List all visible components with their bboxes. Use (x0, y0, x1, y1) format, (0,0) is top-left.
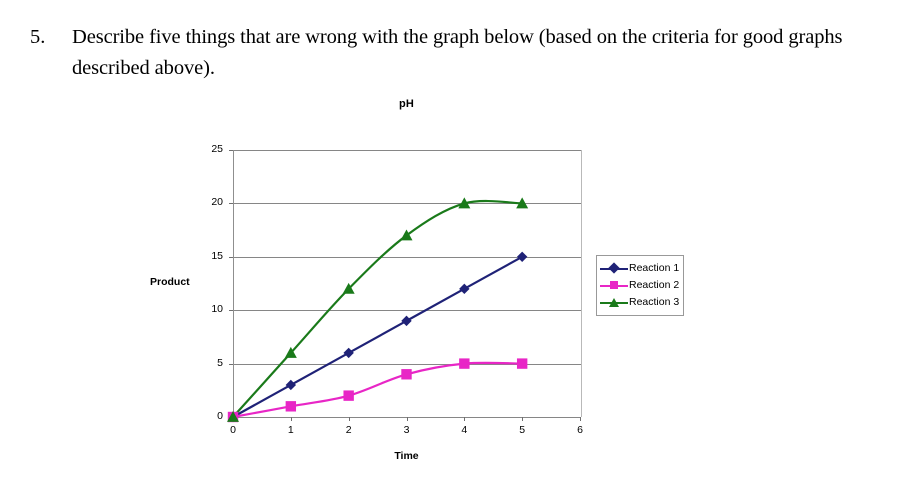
x-tick-label-2: 2 (334, 424, 364, 436)
x-tick-mark-2 (349, 417, 350, 421)
x-tick-label-0: 0 (218, 424, 248, 436)
y-tick-label-5: 5 (183, 357, 223, 369)
legend-label-reaction-2: Reaction 2 (629, 278, 679, 293)
x-tick-mark-5 (522, 417, 523, 421)
legend-item-reaction-2[interactable]: Reaction 2 (599, 277, 680, 294)
chart-figure: pH Product 25 20 15 10 5 0 0 1 2 3 4 5 6… (0, 95, 924, 485)
y-tick-mark-10 (229, 310, 233, 311)
x-tick-label-1: 1 (276, 424, 306, 436)
x-tick-label-6: 6 (565, 424, 595, 436)
gridline-5 (234, 364, 581, 365)
legend-label-reaction-3: Reaction 3 (629, 295, 679, 310)
gridline-10 (234, 310, 581, 311)
x-tick-label-4: 4 (449, 424, 479, 436)
y-tick-mark-5 (229, 364, 233, 365)
x-tick-mark-1 (291, 417, 292, 421)
square-marker-icon (610, 281, 618, 289)
question-text: Describe five things that are wrong with… (72, 22, 924, 84)
gridline-25 (234, 150, 581, 151)
x-tick-label-5: 5 (507, 424, 537, 436)
plot-area (233, 150, 582, 417)
x-tick-mark-3 (407, 417, 408, 421)
y-tick-label-25: 25 (183, 143, 223, 155)
legend-key-reaction-2 (599, 278, 629, 293)
y-tick-mark-25 (229, 150, 233, 151)
chart-title: pH (233, 98, 580, 110)
question-row: 5. Describe five things that are wrong w… (30, 22, 924, 84)
x-tick-mark-4 (464, 417, 465, 421)
diamond-marker-icon (608, 262, 619, 273)
legend-item-reaction-3[interactable]: Reaction 3 (599, 294, 680, 311)
x-tick-mark-0 (233, 417, 234, 421)
gridline-15 (234, 257, 581, 258)
y-tick-label-10: 10 (183, 303, 223, 315)
legend-item-reaction-1[interactable]: Reaction 1 (599, 260, 680, 277)
y-tick-label-20: 20 (183, 196, 223, 208)
y-tick-label-0: 0 (183, 410, 223, 422)
y-tick-mark-15 (229, 257, 233, 258)
x-tick-mark-6 (580, 417, 581, 421)
gridline-20 (234, 203, 581, 204)
y-tick-mark-20 (229, 203, 233, 204)
question-number: 5. (30, 22, 72, 53)
legend-key-reaction-1 (599, 261, 629, 276)
y-axis-title: Product (150, 276, 190, 288)
y-tick-label-15: 15 (183, 250, 223, 262)
chart-legend[interactable]: Reaction 1 Reaction 2 Reaction 3 (596, 255, 684, 316)
legend-key-reaction-3 (599, 295, 629, 310)
x-axis-title: Time (233, 450, 580, 462)
x-tick-label-3: 3 (392, 424, 422, 436)
triangle-marker-icon (609, 298, 619, 307)
legend-label-reaction-1: Reaction 1 (629, 261, 679, 276)
question-block: 5. Describe five things that are wrong w… (30, 22, 924, 84)
